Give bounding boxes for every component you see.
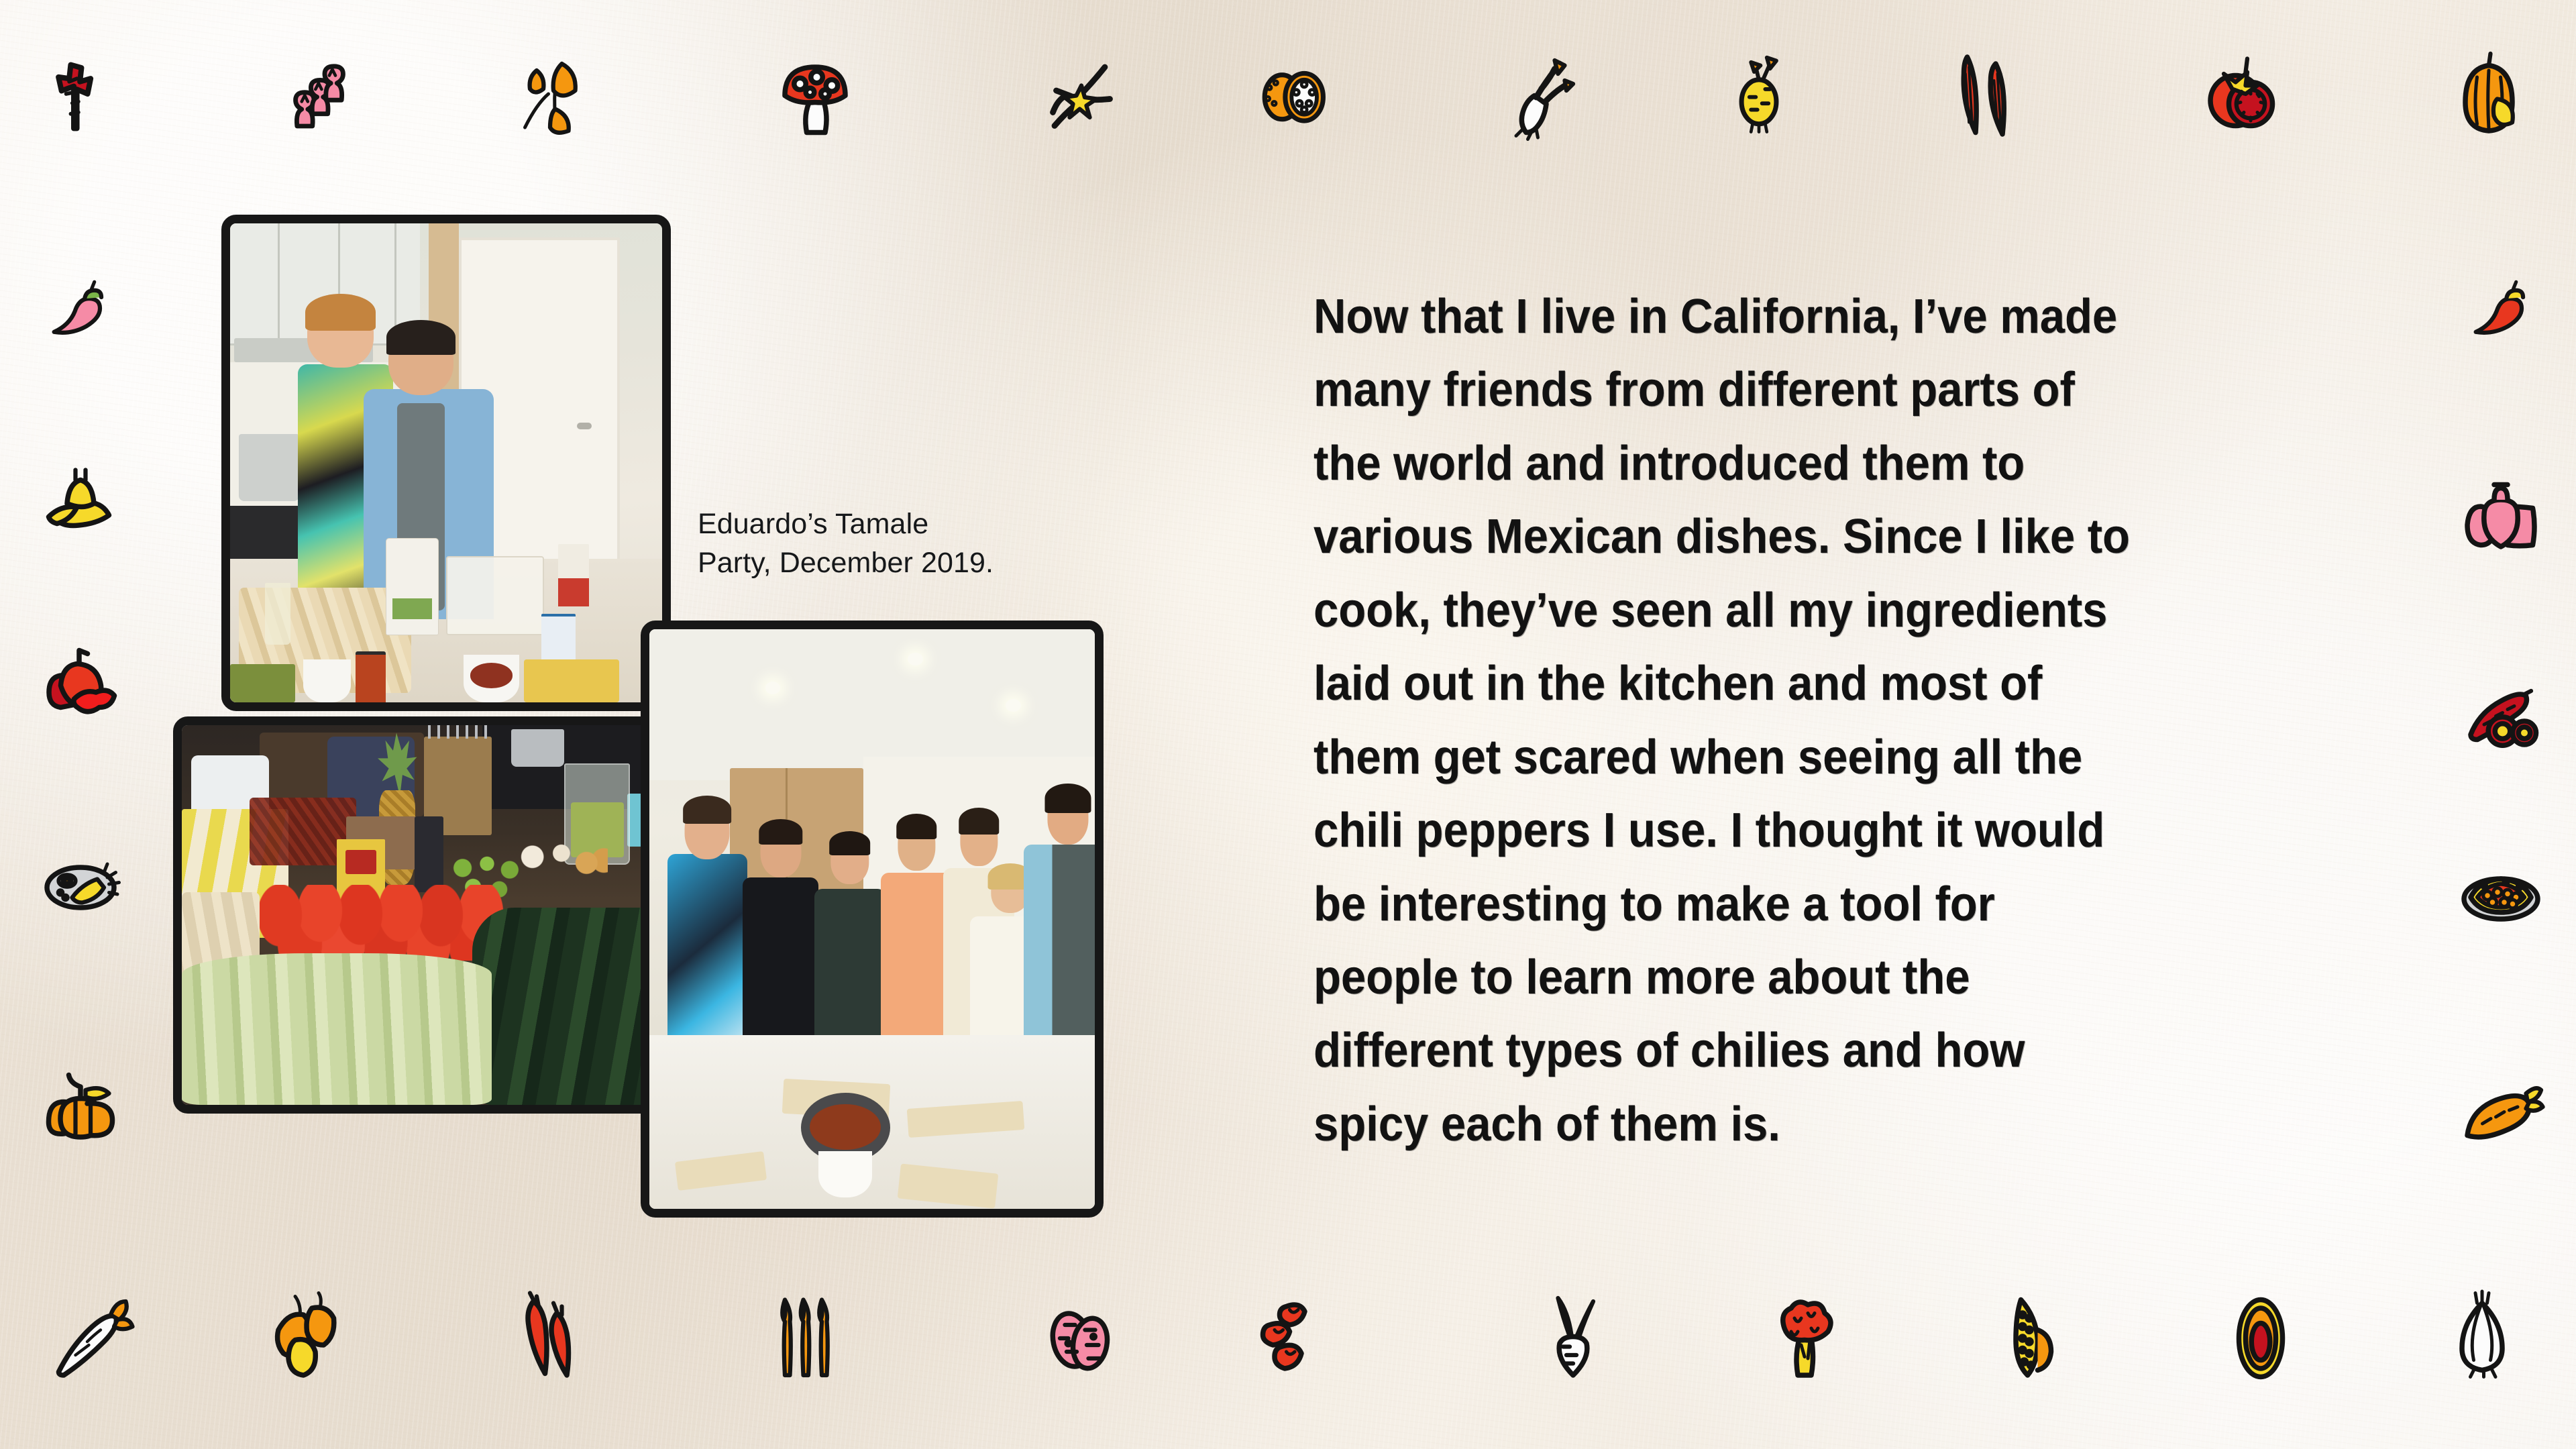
- paragraph-line: cook, they’ve seen all my ingredients: [1313, 574, 2237, 647]
- tomato-icon: [2194, 47, 2288, 141]
- intro-paragraph: Now that I live in California, I’ve made…: [1313, 280, 2237, 1161]
- photo-tamale-party-kitchen[interactable]: [221, 215, 671, 711]
- paragraph-line: various Mexican dishes. Since I like to: [1313, 500, 2237, 574]
- paragraph-line: the world and introduced them to: [1313, 427, 2237, 500]
- caption-line-2: Party, December 2019.: [698, 543, 1087, 582]
- paragraph-line: be interesting to make a tool for: [1313, 868, 2237, 941]
- photo-ingredient-spread[interactable]: [173, 716, 675, 1114]
- caption-line-1: Eduardo’s Tamale: [698, 504, 1087, 543]
- paragraph-line: people to learn more about the: [1313, 941, 2237, 1014]
- toadstool-mushroom-icon: [768, 47, 862, 141]
- pink-chili-pepper-icon: [42, 276, 119, 354]
- garlic-bulb-icon: [2435, 1288, 2529, 1382]
- pink-mushrooms-icon: [271, 51, 357, 137]
- paragraph-line: laid out in the kitchen and most of: [1313, 647, 2237, 720]
- quesadilla-plate-icon: [34, 830, 127, 924]
- red-beans-icon: [1248, 1288, 1342, 1382]
- paragraph-line: them get scared when seeing all the: [1313, 721, 2237, 794]
- white-turnip-icon: [1526, 1288, 1620, 1382]
- red-chili-pepper-icon: [2463, 276, 2541, 354]
- red-bell-pepper-icon: [32, 639, 126, 733]
- pink-bell-pepper-icon: [2454, 473, 2548, 567]
- mangoes-icon: [262, 1288, 356, 1382]
- paragraph-line: Now that I live in California, I’ve made: [1313, 280, 2237, 354]
- cilantro-leaves-icon: [503, 47, 597, 141]
- paragraph-line: many friends from different parts of: [1313, 354, 2237, 427]
- carrot-icon: [2454, 1060, 2548, 1154]
- spring-onion-icon: [1493, 47, 1587, 141]
- red-chilies-icon: [503, 1288, 597, 1382]
- red-coral-pepper-icon: [31, 51, 117, 137]
- chili-pods-icon: [1935, 47, 2029, 141]
- photo-caption: Eduardo’s Tamale Party, December 2019.: [698, 504, 1087, 583]
- pink-potato-icon: [1033, 1288, 1127, 1382]
- paragraph-line: chili peppers I use. I thought it would: [1313, 794, 2237, 867]
- corn-cob-icon: [1986, 1288, 2080, 1382]
- red-broccoli-icon: [1758, 1288, 1851, 1382]
- saffron-threads-icon: [1034, 47, 1128, 141]
- avocado-icon: [2214, 1288, 2308, 1382]
- wheat-stalks-icon: [758, 1288, 852, 1382]
- daikon-radish-icon: [47, 1288, 141, 1382]
- paragraph-line: spicy each of them is.: [1313, 1088, 2237, 1161]
- squash-icon: [2442, 47, 2536, 141]
- photo-group-making-tamales[interactable]: [641, 621, 1104, 1218]
- taco-plate-icon: [2454, 842, 2548, 936]
- paragraph-line: different types of chilies and how: [1313, 1014, 2237, 1087]
- orange-pumpkin-icon: [34, 1060, 127, 1154]
- yellow-beet-icon: [1715, 50, 1803, 138]
- yellow-garlic-icon: [34, 455, 127, 549]
- citrus-slice-icon: [1250, 50, 1339, 138]
- chorizo-slices-icon: [2454, 664, 2548, 758]
